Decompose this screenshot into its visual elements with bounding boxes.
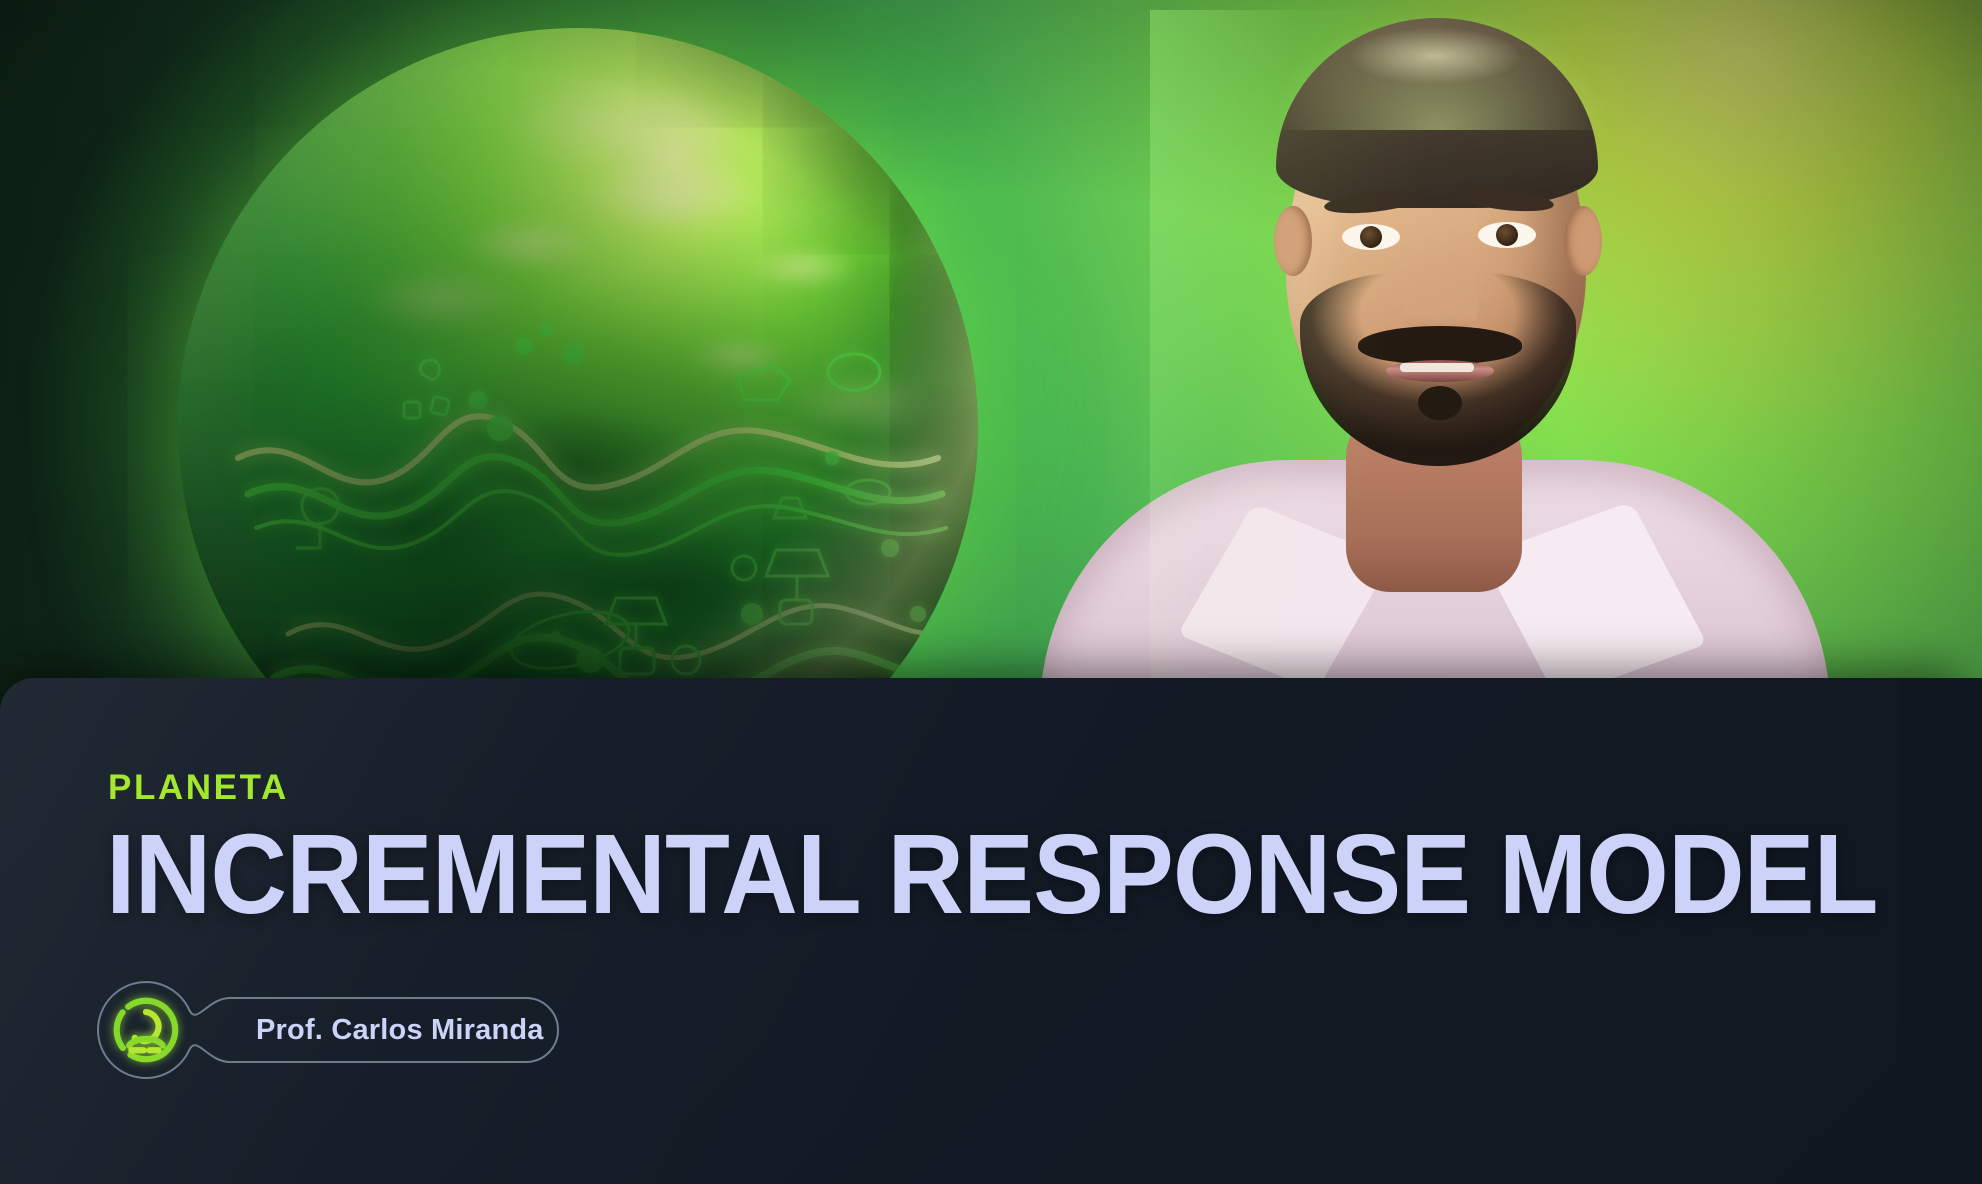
portrait-teeth — [1400, 363, 1474, 372]
portrait-ear-left — [1274, 206, 1312, 276]
portrait-soul-patch — [1418, 386, 1462, 420]
portrait-iris-left — [1360, 226, 1382, 248]
portrait-eye-right — [1478, 222, 1536, 248]
author-badge[interactable]: Prof. Carlos Miranda — [96, 980, 576, 1080]
portrait-mustache — [1358, 326, 1522, 364]
portrait-rim-light-top — [1270, 10, 1610, 130]
instructor-portrait — [1150, 10, 1710, 710]
category-eyebrow: PLANETA — [108, 768, 289, 808]
user-circle-icon — [110, 994, 182, 1066]
thumbnail-canvas: PLANETA INCREMENTAL RESPONSE MODEL Prof.… — [0, 0, 1982, 1184]
portrait-eye-left — [1342, 224, 1400, 250]
portrait-iris-right — [1496, 224, 1518, 246]
page-title: INCREMENTAL RESPONSE MODEL — [106, 818, 1878, 931]
panel-right-fill — [1900, 678, 1982, 1184]
author-name: Prof. Carlos Miranda — [256, 980, 544, 1080]
portrait-ear-right — [1564, 206, 1602, 276]
portrait-mouth — [1386, 360, 1494, 382]
